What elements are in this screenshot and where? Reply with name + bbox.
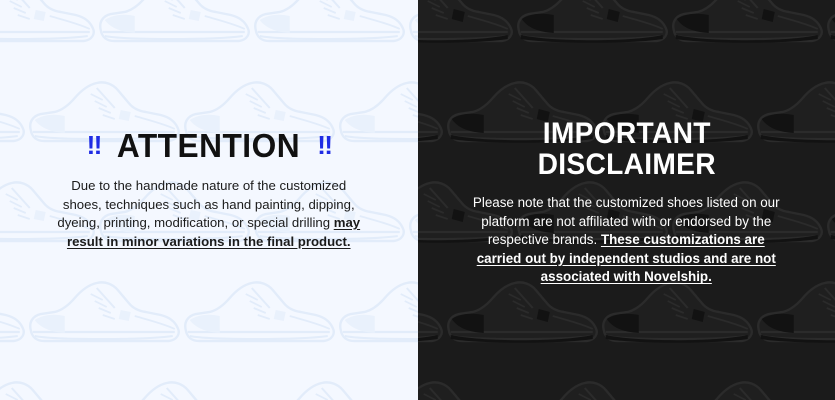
attention-heading: ATTENTION: [117, 129, 300, 162]
double-exclamation-left-icon: ‼: [87, 132, 101, 158]
attention-body: Due to the handmade nature of the custom…: [56, 177, 361, 251]
disclaimer-heading-line-2: DISCLAIMER: [456, 149, 796, 180]
double-exclamation-right-icon: ‼: [317, 132, 331, 158]
attention-heading-row: ‼ ATTENTION ‼: [28, 129, 390, 162]
attention-body-lead: Due to the handmade nature of the custom…: [57, 178, 354, 230]
disclaimer-heading: IMPORTANT DISCLAIMER: [456, 118, 796, 180]
disclaimer-body: Please note that the customized shoes li…: [465, 194, 787, 287]
disclaimer-heading-line-1: IMPORTANT: [456, 118, 796, 149]
disclaimer-banner: ‼ ATTENTION ‼ Due to the handmade nature…: [0, 0, 835, 400]
attention-content: ‼ ATTENTION ‼ Due to the handmade nature…: [0, 0, 418, 251]
disclaimer-panel: IMPORTANT DISCLAIMER Please note that th…: [418, 0, 835, 400]
attention-panel: ‼ ATTENTION ‼ Due to the handmade nature…: [0, 0, 418, 400]
disclaimer-content: IMPORTANT DISCLAIMER Please note that th…: [418, 0, 835, 287]
